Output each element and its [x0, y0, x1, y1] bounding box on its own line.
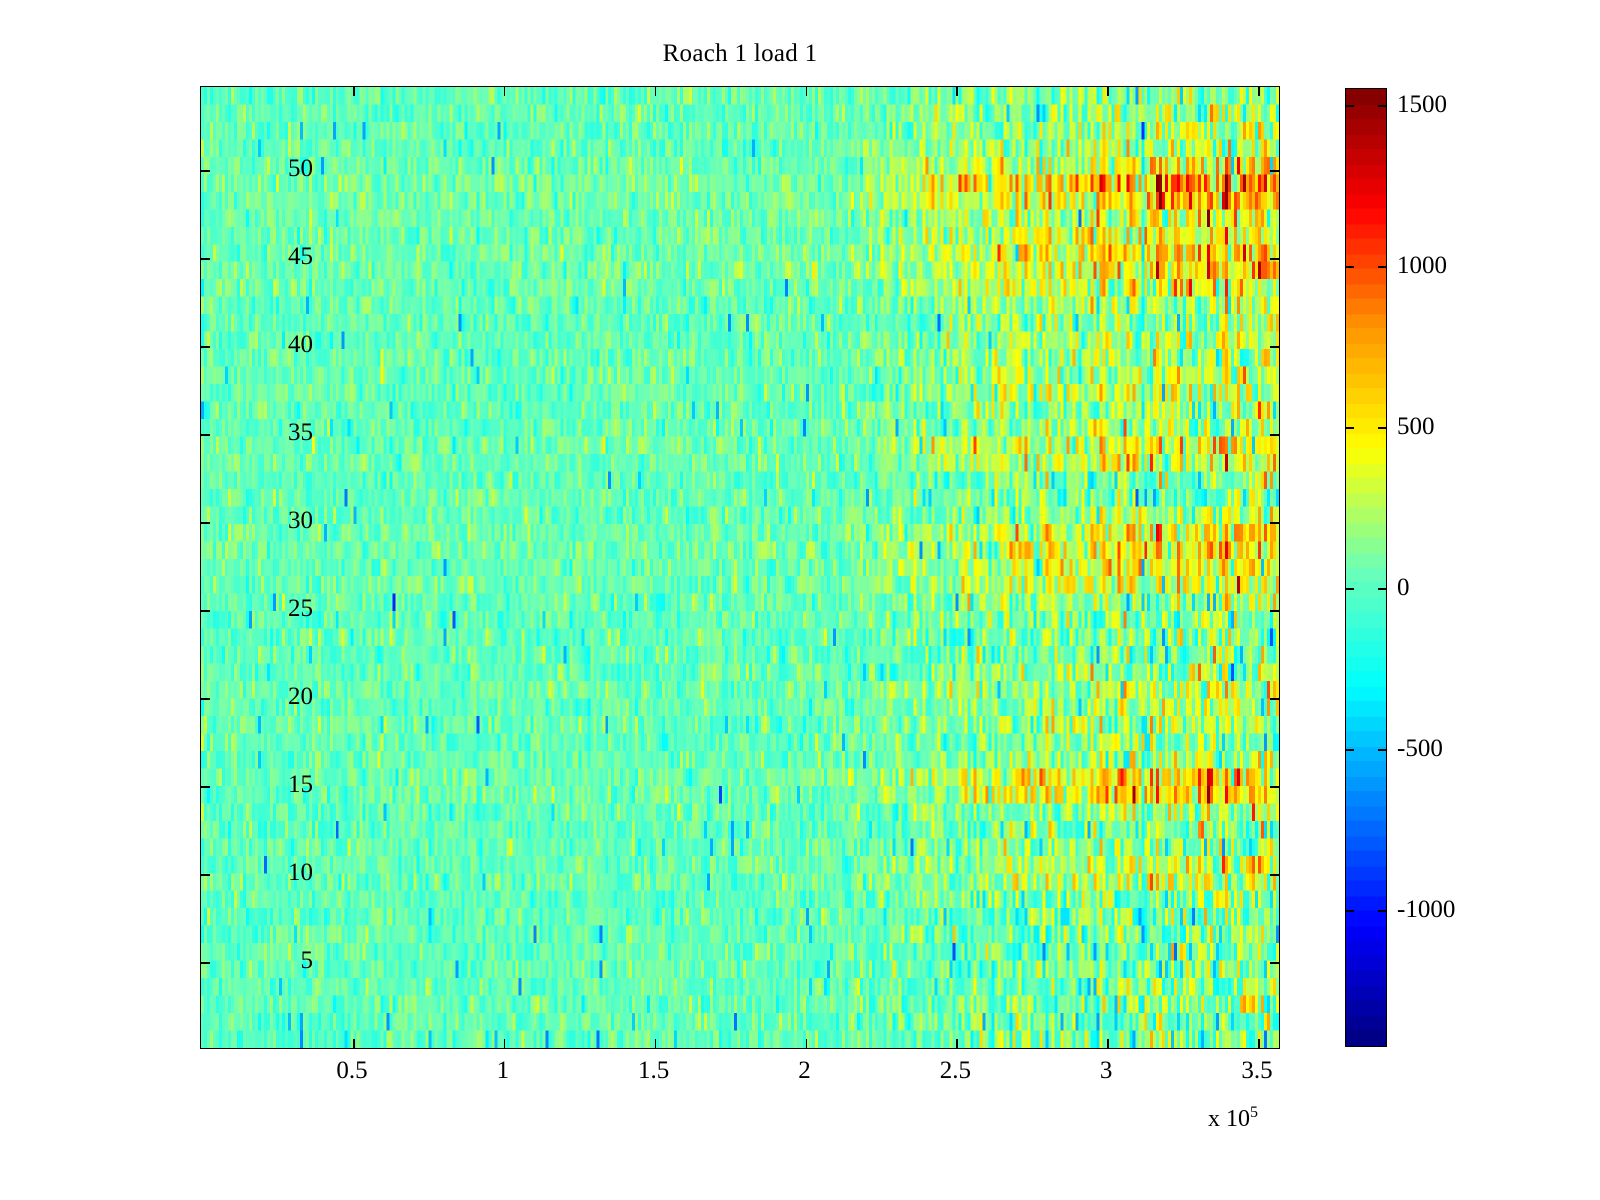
x-axis-tick [806, 1039, 808, 1048]
colorbar-tick [1345, 266, 1354, 268]
y-axis-tick-label: 50 [288, 156, 313, 181]
y-axis-tick-label: 25 [288, 596, 313, 621]
x-axis-tick-label: 1.5 [638, 1058, 669, 1083]
y-axis-tick-label: 40 [288, 332, 313, 357]
y-axis-tick [201, 434, 210, 436]
x-axis-tick-label: 2.5 [940, 1058, 971, 1083]
colorbar-tick-label: 1500 [1397, 92, 1447, 117]
colorbar-tick-right [1378, 588, 1387, 590]
y-axis-tick-label: 20 [288, 684, 313, 709]
y-axis-tick-right [1270, 874, 1279, 876]
heatmap-image [201, 87, 1279, 1048]
colorbar-tick-label: -1000 [1397, 897, 1455, 922]
y-axis-tick-label: 10 [288, 860, 313, 885]
colorbar-tick-label: 500 [1397, 414, 1435, 439]
x-axis-tick-top [504, 87, 506, 96]
y-axis-tick-label: 15 [288, 772, 313, 797]
y-axis-tick [201, 698, 210, 700]
y-axis-tick [201, 962, 210, 964]
y-axis-tick-right [1270, 698, 1279, 700]
x-axis-tick [504, 1039, 506, 1048]
colorbar-tick-right [1378, 105, 1387, 107]
y-axis-tick [201, 874, 210, 876]
x-axis-tick-top [806, 87, 808, 96]
x-axis-tick-top [1107, 87, 1109, 96]
y-axis-tick [201, 346, 210, 348]
colorbar-tick-right [1378, 749, 1387, 751]
colorbar[interactable] [1345, 88, 1387, 1047]
x-axis-tick [1258, 1039, 1260, 1048]
heatmap-axes[interactable] [200, 86, 1280, 1049]
x-axis-tick-label: 1 [497, 1058, 510, 1083]
y-axis-tick-right [1270, 786, 1279, 788]
x-axis-tick-label: 3.5 [1241, 1058, 1272, 1083]
colorbar-tick-label: -500 [1397, 736, 1443, 761]
x-axis-tick-top [353, 87, 355, 96]
figure-root: Roach 1 load 1 51015202530354045500.511.… [0, 0, 1600, 1200]
x-axis-tick-label: 3 [1100, 1058, 1113, 1083]
x-axis-tick [353, 1039, 355, 1048]
x-axis-tick [1107, 1039, 1109, 1048]
colorbar-tick-right [1378, 266, 1387, 268]
colorbar-tick [1345, 588, 1354, 590]
x-axis-tick-label: 2 [798, 1058, 811, 1083]
x-axis-exponent-label: x 105 [1208, 1104, 1258, 1133]
x-axis-tick [956, 1039, 958, 1048]
colorbar-gradient [1345, 88, 1387, 1047]
x-axis-tick-label: 0.5 [336, 1058, 367, 1083]
y-axis-tick [201, 786, 210, 788]
y-axis-tick [201, 610, 210, 612]
y-axis-tick-right [1270, 962, 1279, 964]
y-axis-tick-right [1270, 170, 1279, 172]
y-axis-tick [201, 522, 210, 524]
x-exponent-base: x 10 [1208, 1106, 1250, 1132]
y-axis-tick [201, 170, 210, 172]
x-axis-tick-top [956, 87, 958, 96]
y-axis-tick-right [1270, 346, 1279, 348]
colorbar-tick-label: 0 [1397, 575, 1410, 600]
x-axis-tick-top [1258, 87, 1260, 96]
colorbar-tick [1345, 749, 1354, 751]
page-title: Roach 1 load 1 [0, 40, 1480, 68]
y-axis-tick-label: 5 [301, 948, 314, 973]
y-axis-tick-right [1270, 610, 1279, 612]
y-axis-tick-label: 35 [288, 420, 313, 445]
y-axis-tick-right [1270, 258, 1279, 260]
x-axis-tick-top [655, 87, 657, 96]
x-exponent-power: 5 [1250, 1104, 1258, 1121]
x-axis-tick [655, 1039, 657, 1048]
y-axis-tick [201, 258, 210, 260]
y-axis-tick-right [1270, 434, 1279, 436]
y-axis-tick-right [1270, 522, 1279, 524]
colorbar-tick-right [1378, 910, 1387, 912]
colorbar-tick [1345, 910, 1354, 912]
colorbar-tick-right [1378, 427, 1387, 429]
y-axis-tick-label: 30 [288, 508, 313, 533]
colorbar-tick [1345, 105, 1354, 107]
colorbar-tick-label: 1000 [1397, 253, 1447, 278]
colorbar-image [1346, 89, 1386, 1046]
colorbar-tick [1345, 427, 1354, 429]
y-axis-tick-label: 45 [288, 244, 313, 269]
